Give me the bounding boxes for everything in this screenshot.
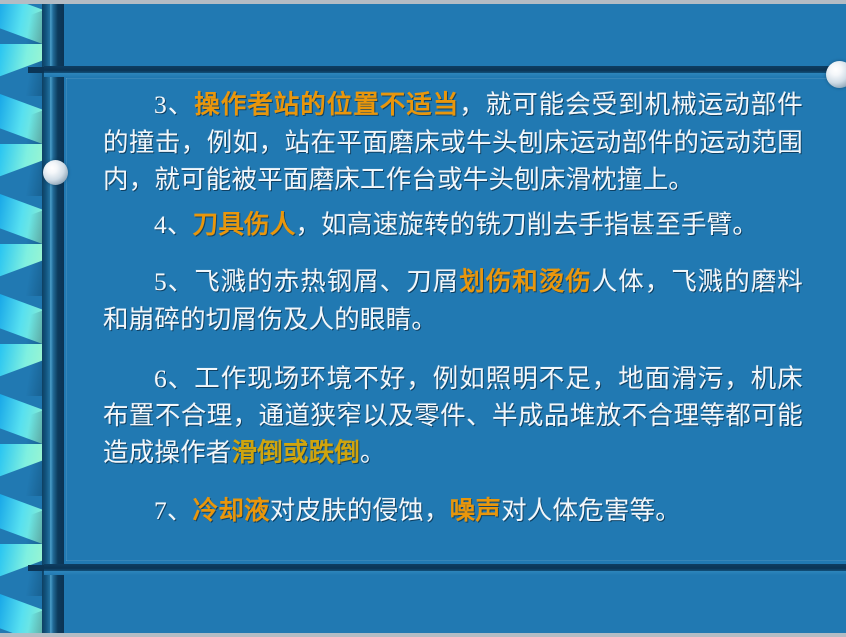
left-accent-sphere (43, 160, 68, 185)
body-paragraph: 5、飞溅的赤热钢屑、刀屑划伤和烫伤人体，飞溅的磨料和崩碎的切屑伤及人的眼睛。 (67, 263, 837, 338)
top-divider-bar (44, 66, 846, 77)
body-text-run: 4、 (154, 210, 193, 239)
ribbon-band (0, 294, 48, 346)
top-edge-strip (0, 0, 846, 4)
emphasis-orange: 刀具伤人 (193, 210, 296, 240)
ribbon-band (0, 244, 48, 296)
body-paragraph: 7、冷却液对皮肤的侵蚀，噪声对人体危害等。 (67, 492, 837, 530)
emphasis-gold: 滑倒或跌倒 (232, 438, 361, 468)
slide-body-text: 3、操作者站的位置不适当，就可能会受到机械运动部件的撞击，例如，站在平面磨床或牛… (67, 80, 837, 558)
ribbon-band (0, 0, 48, 46)
body-text-run: 对皮肤的侵蚀， (270, 496, 450, 525)
emphasis-orange: 操作者站的位置不适当 (194, 90, 459, 120)
body-paragraph: 3、操作者站的位置不适当，就可能会受到机械运动部件的撞击，例如，站在平面磨床或牛… (67, 86, 837, 198)
body-text-run: 对人体危害等。 (501, 496, 681, 525)
body-text-run: 。 (360, 438, 386, 467)
left-ribbon-decoration (0, 0, 48, 637)
bottom-divider-bar (44, 564, 846, 575)
panel-bottom-edge (66, 560, 846, 561)
vertical-rail (42, 0, 64, 637)
body-text-run: 6、工作现场环境不好，例如照明不足，地面滑污，机床布置不合理，通道狭窄以及零件、… (103, 364, 803, 467)
body-text-run: ，如高速旋转的铣刀削去手指甚至手臂。 (295, 210, 758, 239)
vertical-rail-highlight (50, 0, 53, 637)
emphasis-orange: 冷却液 (193, 496, 270, 526)
body-paragraph: 4、刀具伤人，如高速旋转的铣刀削去手指甚至手臂。 (67, 206, 837, 244)
bottom-edge-strip (0, 633, 846, 637)
bottom-divider-dark (44, 564, 846, 571)
ribbon-band (0, 94, 48, 146)
body-text-run: 3、 (154, 90, 194, 119)
ribbon-band (0, 444, 48, 496)
emphasis-orange: 划伤和烫伤 (459, 267, 592, 297)
body-text-run: 5、飞溅的赤热钢屑、刀屑 (154, 267, 459, 296)
ribbon-band (0, 394, 48, 446)
body-text-run: 7、 (154, 496, 193, 525)
bottom-divider-light (44, 571, 846, 575)
emphasis-orange: 噪声 (450, 496, 501, 526)
ribbon-band (0, 194, 48, 246)
ribbon-band (0, 144, 48, 196)
ribbon-band (0, 494, 48, 546)
top-divider-light (44, 73, 846, 77)
ribbon-band (0, 594, 48, 637)
body-paragraph: 6、工作现场环境不好，例如照明不足，地面滑污，机床布置不合理，通道狭窄以及零件、… (67, 360, 837, 472)
panel-top-edge (66, 78, 846, 79)
ribbon-band (0, 344, 48, 396)
top-divider-dark (44, 66, 846, 73)
right-accent-sphere (826, 61, 846, 88)
presentation-slide: 3、操作者站的位置不适当，就可能会受到机械运动部件的撞击，例如，站在平面磨床或牛… (0, 0, 846, 637)
